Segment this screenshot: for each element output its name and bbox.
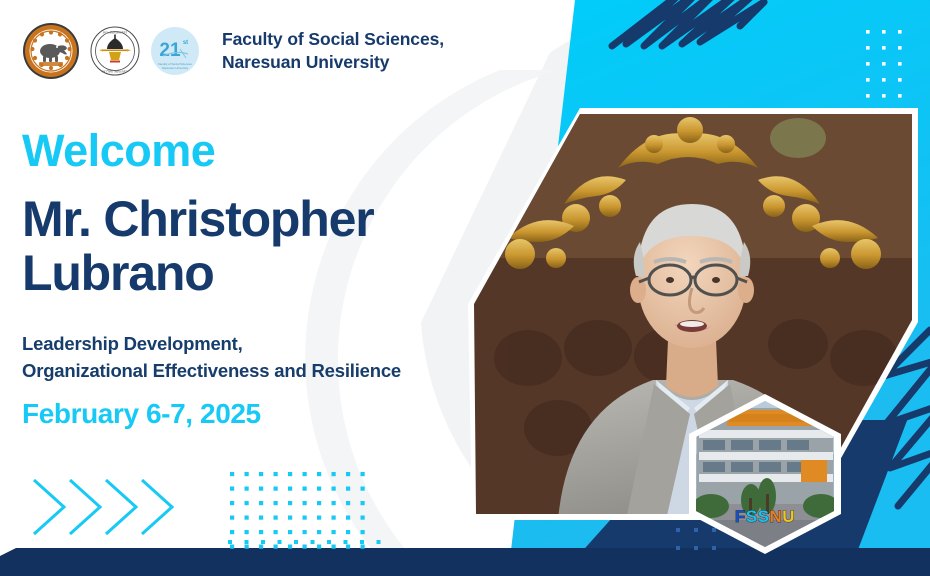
svg-text:มหาวิทยาลัยนเรศวร: มหาวิทยาลัยนเรศวร bbox=[101, 70, 129, 74]
svg-text:st: st bbox=[183, 40, 188, 46]
dot-grid-cyan bbox=[228, 470, 368, 565]
guest-name: Mr. Christopher Lubrano bbox=[22, 192, 373, 300]
welcome-label: Welcome bbox=[22, 128, 215, 173]
topic-text: Leadership Development, Organizational E… bbox=[22, 330, 401, 384]
anniversary-21-logo-icon: 21 st Faculty of Social Sciences Naresua… bbox=[150, 26, 200, 76]
organization-name: Faculty of Social Sciences, Naresuan Uni… bbox=[222, 28, 444, 75]
naresuan-university-seal-icon bbox=[22, 22, 80, 80]
faculty-thai-seal-icon: คณะสังคมศาสตร์ มหาวิทยาลัยนเรศวร bbox=[90, 26, 140, 76]
chevron-arrows bbox=[30, 472, 190, 547]
faculty-building-photo: FSSNU bbox=[689, 394, 841, 554]
svg-text:คณะสังคมศาสตร์: คณะสังคมศาสตร์ bbox=[103, 31, 127, 35]
fssnu-sign: FSSNU bbox=[735, 507, 795, 526]
svg-text:Naresuan University: Naresuan University bbox=[162, 66, 189, 70]
scribble-doodle-top bbox=[612, 0, 764, 46]
welcome-banner: คณะสังคมศาสตร์ มหาวิทยาลัยนเรศวร 21 st bbox=[0, 0, 930, 576]
event-date: February 6-7, 2025 bbox=[22, 400, 261, 428]
svg-text:21: 21 bbox=[159, 40, 181, 61]
header: คณะสังคมศาสตร์ มหาวิทยาลัยนเรศวร 21 st bbox=[22, 22, 444, 80]
